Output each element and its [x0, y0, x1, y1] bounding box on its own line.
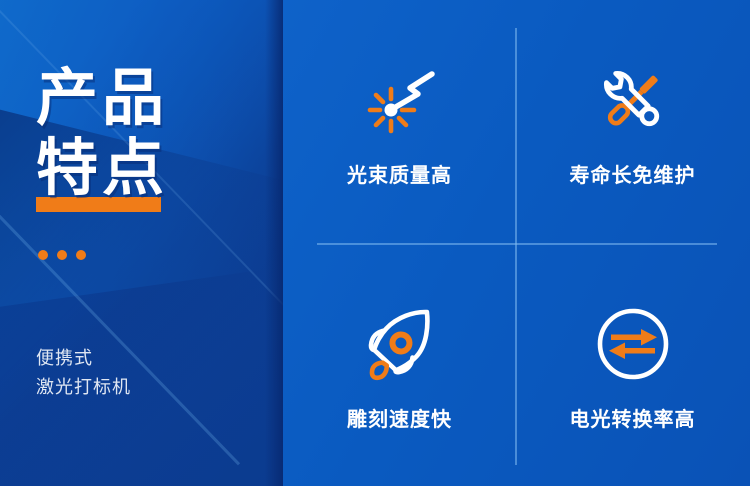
page-title-line-2: 特点	[36, 134, 168, 204]
rocket-icon	[357, 301, 443, 387]
feature-cell-maintenance-free: 寿命长免维护	[516, 0, 749, 244]
product-subtitle: 便携式 激光打标机	[36, 344, 131, 402]
dot-3	[76, 250, 86, 260]
feature-cell-engraving-speed: 雕刻速度快	[283, 244, 516, 488]
product-subtitle-line-2: 激光打标机	[36, 373, 131, 402]
left-panel-edge-shade	[265, 0, 283, 492]
wrench-screwdriver-icon	[590, 57, 676, 143]
feature-label-maintenance-free: 寿命长免维护	[570, 159, 696, 188]
features-grid-panel: 光束质量高	[283, 0, 750, 492]
page-title: 产品 特点	[36, 64, 168, 204]
feature-grid: 光束质量高	[283, 0, 750, 492]
page-title-line-1: 产品	[36, 64, 168, 134]
exchange-arrows-icon	[590, 301, 676, 387]
feature-label-conversion-rate: 电光转换率高	[570, 403, 696, 432]
dot-1	[38, 250, 48, 260]
left-title-panel: 产品 特点 便携式 激光打标机	[0, 0, 283, 492]
dot-2	[57, 250, 67, 260]
decorative-dots	[38, 250, 86, 260]
feature-label-beam-quality: 光束质量高	[347, 159, 452, 188]
feature-cell-beam-quality: 光束质量高	[283, 0, 516, 244]
product-subtitle-line-1: 便携式	[36, 344, 131, 373]
product-features-banner: 产品 特点 便携式 激光打标机	[0, 0, 750, 492]
laser-beam-icon	[357, 57, 443, 143]
bottom-white-strip	[0, 486, 750, 492]
feature-cell-conversion-rate: 电光转换率高	[516, 244, 749, 488]
feature-label-engraving-speed: 雕刻速度快	[347, 403, 452, 432]
